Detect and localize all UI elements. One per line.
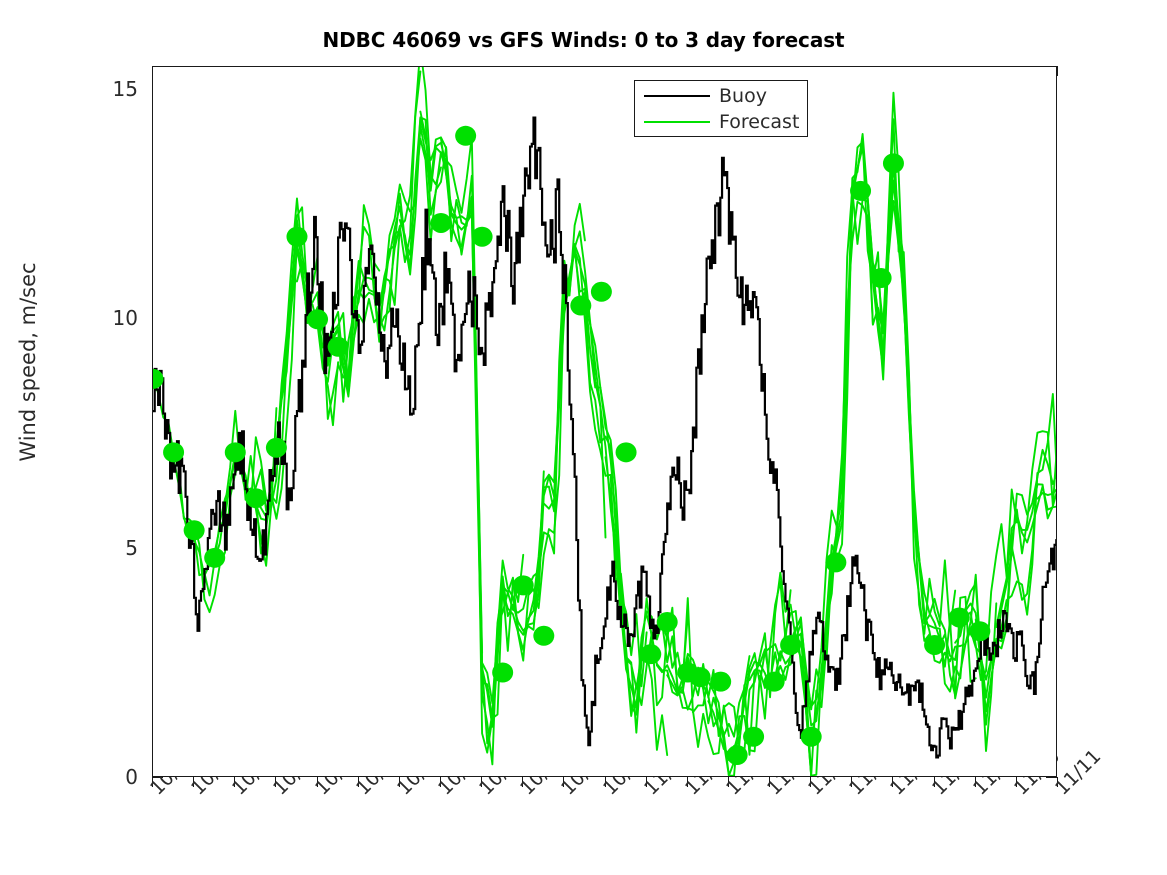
forecast-data-marker <box>533 626 554 646</box>
forecast-trace <box>770 157 893 710</box>
forecast-data-marker <box>883 153 904 173</box>
plot-area <box>152 66 1057 777</box>
forecast-data-marker <box>455 126 476 146</box>
forecast-data-marker <box>871 268 892 288</box>
y-axis-label: Wind speed, m/sec <box>16 82 40 642</box>
x-tick-mark <box>1057 66 1058 76</box>
forecast-line-group <box>153 67 1057 776</box>
forecast-data-marker <box>801 727 822 747</box>
y-tick-label: 0 <box>92 765 138 789</box>
forecast-data-marker <box>570 296 591 316</box>
y-tick-label: 10 <box>92 306 138 330</box>
forecast-data-marker <box>591 282 612 302</box>
legend-label-forecast: Forecast <box>719 113 799 132</box>
y-axis-tick-labels: 051015 <box>88 0 138 875</box>
chart-title: NDBC 46069 vs GFS Winds: 0 to 3 day fore… <box>0 28 1167 52</box>
forecast-data-marker <box>286 227 307 247</box>
forecast-data-marker <box>727 745 748 765</box>
forecast-data-marker <box>472 227 493 247</box>
forecast-data-marker <box>266 438 287 458</box>
forecast-data-marker <box>780 635 801 655</box>
chart-figure: NDBC 46069 vs GFS Winds: 0 to 3 day fore… <box>0 0 1167 875</box>
y-tick-label: 5 <box>92 536 138 560</box>
legend-label-buoy: Buoy <box>719 87 767 106</box>
plot-svg <box>153 67 1057 777</box>
x-tick-label: 11/11 <box>1051 745 1105 799</box>
forecast-data-marker <box>924 635 945 655</box>
forecast-data-marker <box>949 607 970 627</box>
legend-swatch-buoy-icon <box>644 95 710 97</box>
forecast-data-marker <box>430 213 451 233</box>
forecast-data-marker <box>492 663 513 683</box>
forecast-data-marker <box>245 488 266 508</box>
legend-swatch-forecast-icon <box>644 121 710 123</box>
forecast-trace <box>935 394 1057 680</box>
forecast-marker-group <box>153 126 990 765</box>
forecast-data-marker <box>825 552 846 572</box>
forecast-data-marker <box>513 575 534 595</box>
forecast-trace <box>215 207 338 566</box>
forecast-data-marker <box>764 672 785 692</box>
forecast-data-marker <box>204 548 225 568</box>
forecast-data-marker <box>690 667 711 687</box>
forecast-data-marker <box>657 612 678 632</box>
forecast-data-marker <box>616 442 637 462</box>
forecast-trace <box>729 189 852 776</box>
forecast-data-marker <box>969 621 990 641</box>
legend-entry-forecast: Forecast <box>635 109 807 135</box>
chart-legend: Buoy Forecast <box>634 80 808 137</box>
forecast-data-marker <box>850 181 871 201</box>
forecast-data-marker <box>184 520 205 540</box>
forecast-data-marker <box>163 442 184 462</box>
forecast-data-marker <box>743 727 764 747</box>
forecast-data-marker <box>328 337 349 357</box>
legend-entry-buoy: Buoy <box>635 83 807 109</box>
y-tick-label: 15 <box>92 77 138 101</box>
forecast-trace <box>359 139 482 653</box>
forecast-data-marker <box>307 309 328 329</box>
forecast-data-marker <box>640 644 661 664</box>
forecast-data-marker <box>225 442 246 462</box>
forecast-data-marker <box>710 672 731 692</box>
